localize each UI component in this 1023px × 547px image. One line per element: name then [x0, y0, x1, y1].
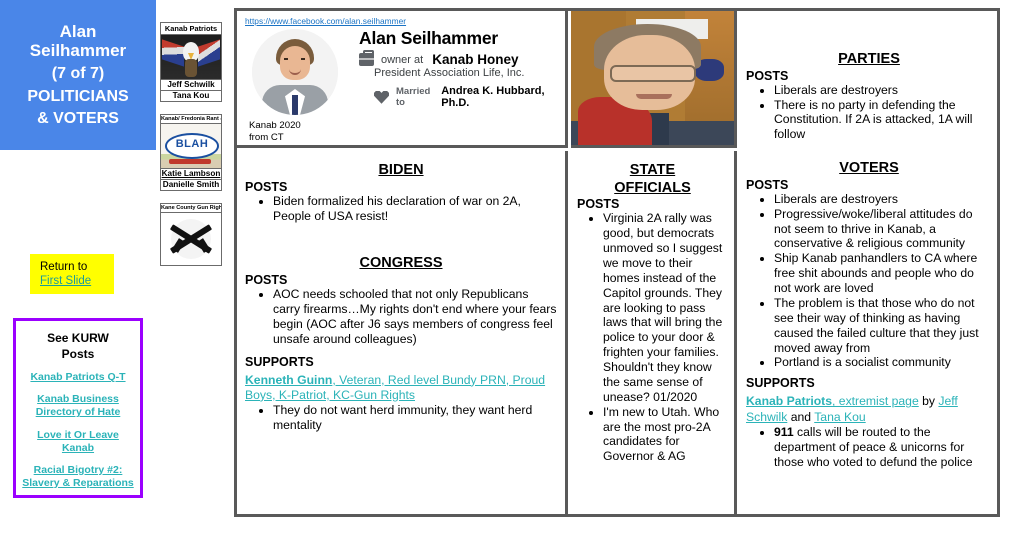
blah-speech-bubble-icon: BLAH — [161, 124, 221, 168]
kurw-heading-line-1: See KURW — [22, 331, 134, 347]
list-item: I'm new to Utah. Who are the most pro-2A… — [603, 405, 728, 465]
list-item: Liberals are destroyers — [774, 192, 992, 207]
kenneth-guinn-link[interactable]: Kenneth Guinn, Veteran, Red level Bundy … — [245, 373, 545, 402]
voters-supports-line: Kanab Patriots, extremist page by Jeff S… — [746, 394, 992, 425]
congress-supports-label: SUPPORTS — [245, 355, 557, 369]
list-item: Ship Kanab panhandlers to CA where free … — [774, 251, 992, 296]
profile-relationship-prefix: Married to — [396, 86, 436, 108]
thumbnail-caption: Kanab/ Fredonia Rant & Rave — [161, 115, 221, 124]
list-item: Biden formalized his declaration of war … — [273, 194, 557, 224]
kurw-posts-box: See KURW Posts Kanab Patriots Q-T Kanab … — [13, 318, 143, 498]
congress-supports-list: They do not want herd immunity, they wan… — [245, 403, 557, 433]
title-line-4: POLITICIANS — [27, 88, 128, 106]
thumbnail-name-1: Katie Lambson — [161, 168, 221, 179]
list-item: Progressive/woke/liberal attitudes do no… — [774, 207, 992, 252]
facebook-profile-card: https://www.facebook.com/alan.seilhammer… — [237, 11, 568, 148]
kurw-link-3[interactable]: Love it Or Leave Kanab — [22, 429, 134, 455]
voters-supports-list: 911 calls will be routed to the departme… — [746, 425, 992, 470]
thumbnail-caption: Kane County Gun Rights — [161, 204, 221, 213]
list-item: The problem is that those who do not see… — [774, 296, 992, 356]
profile-work-org: Kanab Honey — [432, 52, 518, 67]
supports-bullet-rest: calls will be routed to the department o… — [774, 425, 973, 469]
eagle-logo-icon — [161, 35, 221, 79]
first-slide-link[interactable]: First Slide — [40, 274, 114, 288]
supports-link-bold: Kenneth Guinn — [245, 373, 332, 387]
supports-link-bold: Kanab Patriots — [746, 394, 832, 408]
supports-link-rest: , extremist page — [832, 394, 919, 408]
group-thumbnail-strip: Kanab Patriots Jeff Schwilk Tana Kou Kan… — [160, 22, 222, 278]
kurw-link-4[interactable]: Racial Bigotry #2: Slavery & Reparations — [22, 464, 134, 490]
kurw-heading-line-2: Posts — [22, 347, 134, 363]
state-officials-cell: STATE OFFICIALS POSTS Virginia 2A rally … — [571, 151, 737, 514]
parties-posts-list: Liberals are destroyers There is no part… — [746, 83, 992, 143]
biden-congress-cell: BIDEN POSTS Biden formalized his declara… — [237, 151, 568, 514]
return-label: Return to — [40, 260, 114, 274]
voters-supports-label: SUPPORTS — [746, 376, 992, 390]
list-item: There is no party in defending the Const… — [774, 98, 992, 143]
kurw-link-2[interactable]: Kanab Business Directory of Hate — [22, 393, 134, 419]
thumbnail-name-2: Danielle Smith — [161, 179, 221, 190]
parties-section-title: PARTIES — [746, 51, 992, 68]
parties-voters-cell: PARTIES POSTS Liberals are destroyers Th… — [740, 11, 1000, 514]
profile-right: Alan Seilhammer owner at Kanab Honey Pre… — [347, 27, 559, 144]
list-item: Portland is a socialist community — [774, 355, 992, 370]
state-officials-posts-list: Virginia 2A rally was good, but democrat… — [577, 211, 728, 464]
heart-icon — [374, 91, 389, 104]
congress-supports-line: Kenneth Guinn, Veteran, Red level Bundy … — [245, 373, 557, 404]
congress-posts-list: AOC needs schooled that not only Republi… — [245, 287, 557, 347]
profile-work-prefix: owner at — [381, 54, 423, 66]
profile-role-org: Association Life, Inc. — [424, 67, 525, 79]
supports-mid-text: by — [919, 394, 939, 408]
portrait-photo-cell — [571, 11, 737, 148]
state-officials-posts-label: POSTS — [577, 197, 728, 211]
briefcase-icon — [359, 53, 374, 66]
biden-posts-label: POSTS — [245, 180, 557, 194]
facebook-profile-url-link[interactable]: https://www.facebook.com/alan.seilhammer — [245, 16, 559, 26]
title-line-3: (7 of 7) — [52, 65, 104, 83]
thumbnail-name-2: Tana Kou — [161, 90, 221, 101]
voters-posts-list: Liberals are destroyers Progressive/woke… — [746, 192, 992, 371]
voters-section-title: VOTERS — [746, 160, 992, 177]
portrait-photo-alan-seilhammer — [571, 11, 734, 145]
left-sidebar: Alan Seilhammer (7 of 7) POLITICIANS & V… — [0, 0, 156, 547]
supports-bullet-bold: 911 — [774, 425, 794, 439]
profile-location-line-2: from CT — [249, 132, 347, 144]
thumbnail-name-1: Jeff Schwilk — [161, 79, 221, 90]
biden-posts-list: Biden formalized his declaration of war … — [245, 194, 557, 224]
profile-photo-avatar — [252, 29, 338, 115]
tana-kou-link[interactable]: Tana Kou — [814, 410, 866, 424]
thumbnail-kanab-fredonia-rant-rave[interactable]: Kanab/ Fredonia Rant & Rave BLAH Katie L… — [160, 114, 222, 191]
kanab-patriots-link[interactable]: Kanab Patriots, extremist page — [746, 394, 919, 408]
content-table: https://www.facebook.com/alan.seilhammer… — [234, 8, 1000, 517]
list-item: AOC needs schooled that not only Republi… — [273, 287, 557, 347]
profile-name: Alan Seilhammer — [359, 29, 559, 48]
slide-title-banner: Alan Seilhammer (7 of 7) POLITICIANS & V… — [0, 0, 156, 150]
title-line-5: & VOTERS — [37, 110, 119, 128]
profile-spouse: Andrea K. Hubbard, Ph.D. — [441, 85, 559, 109]
profile-role: President Association Life, Inc. — [374, 67, 559, 79]
supports-and-text: and — [787, 410, 814, 424]
state-officials-title-line-2: OFFICIALS — [577, 180, 728, 197]
kurw-link-1[interactable]: Kanab Patriots Q-T — [22, 371, 134, 384]
thumbnail-kane-county-gun-rights[interactable]: Kane County Gun Rights — [160, 203, 222, 266]
parties-posts-label: POSTS — [746, 69, 992, 83]
congress-section-title: CONGRESS — [245, 255, 557, 272]
profile-role-title: President — [374, 67, 420, 79]
list-item: Virginia 2A rally was good, but democrat… — [603, 211, 728, 404]
congress-posts-label: POSTS — [245, 273, 557, 287]
profile-left: Kanab 2020 from CT — [243, 27, 347, 144]
profile-location-line-1: Kanab 2020 — [249, 120, 347, 132]
crossed-rifles-icon — [161, 213, 221, 265]
title-line-1: Alan — [60, 22, 97, 41]
voters-posts-label: POSTS — [746, 178, 992, 192]
return-to-first-slide-box[interactable]: Return to First Slide — [30, 254, 114, 294]
list-item: They do not want herd immunity, they wan… — [273, 403, 557, 433]
biden-section-title: BIDEN — [245, 162, 557, 179]
state-officials-title-line-1: STATE — [577, 162, 728, 179]
thumbnail-caption: Kanab Patriots — [161, 23, 221, 35]
list-item: 911 calls will be routed to the departme… — [774, 425, 992, 470]
list-item: Liberals are destroyers — [774, 83, 992, 98]
title-line-2: Seilhammer — [30, 41, 126, 60]
thumbnail-kanab-patriots[interactable]: Kanab Patriots Jeff Schwilk Tana Kou — [160, 22, 222, 102]
